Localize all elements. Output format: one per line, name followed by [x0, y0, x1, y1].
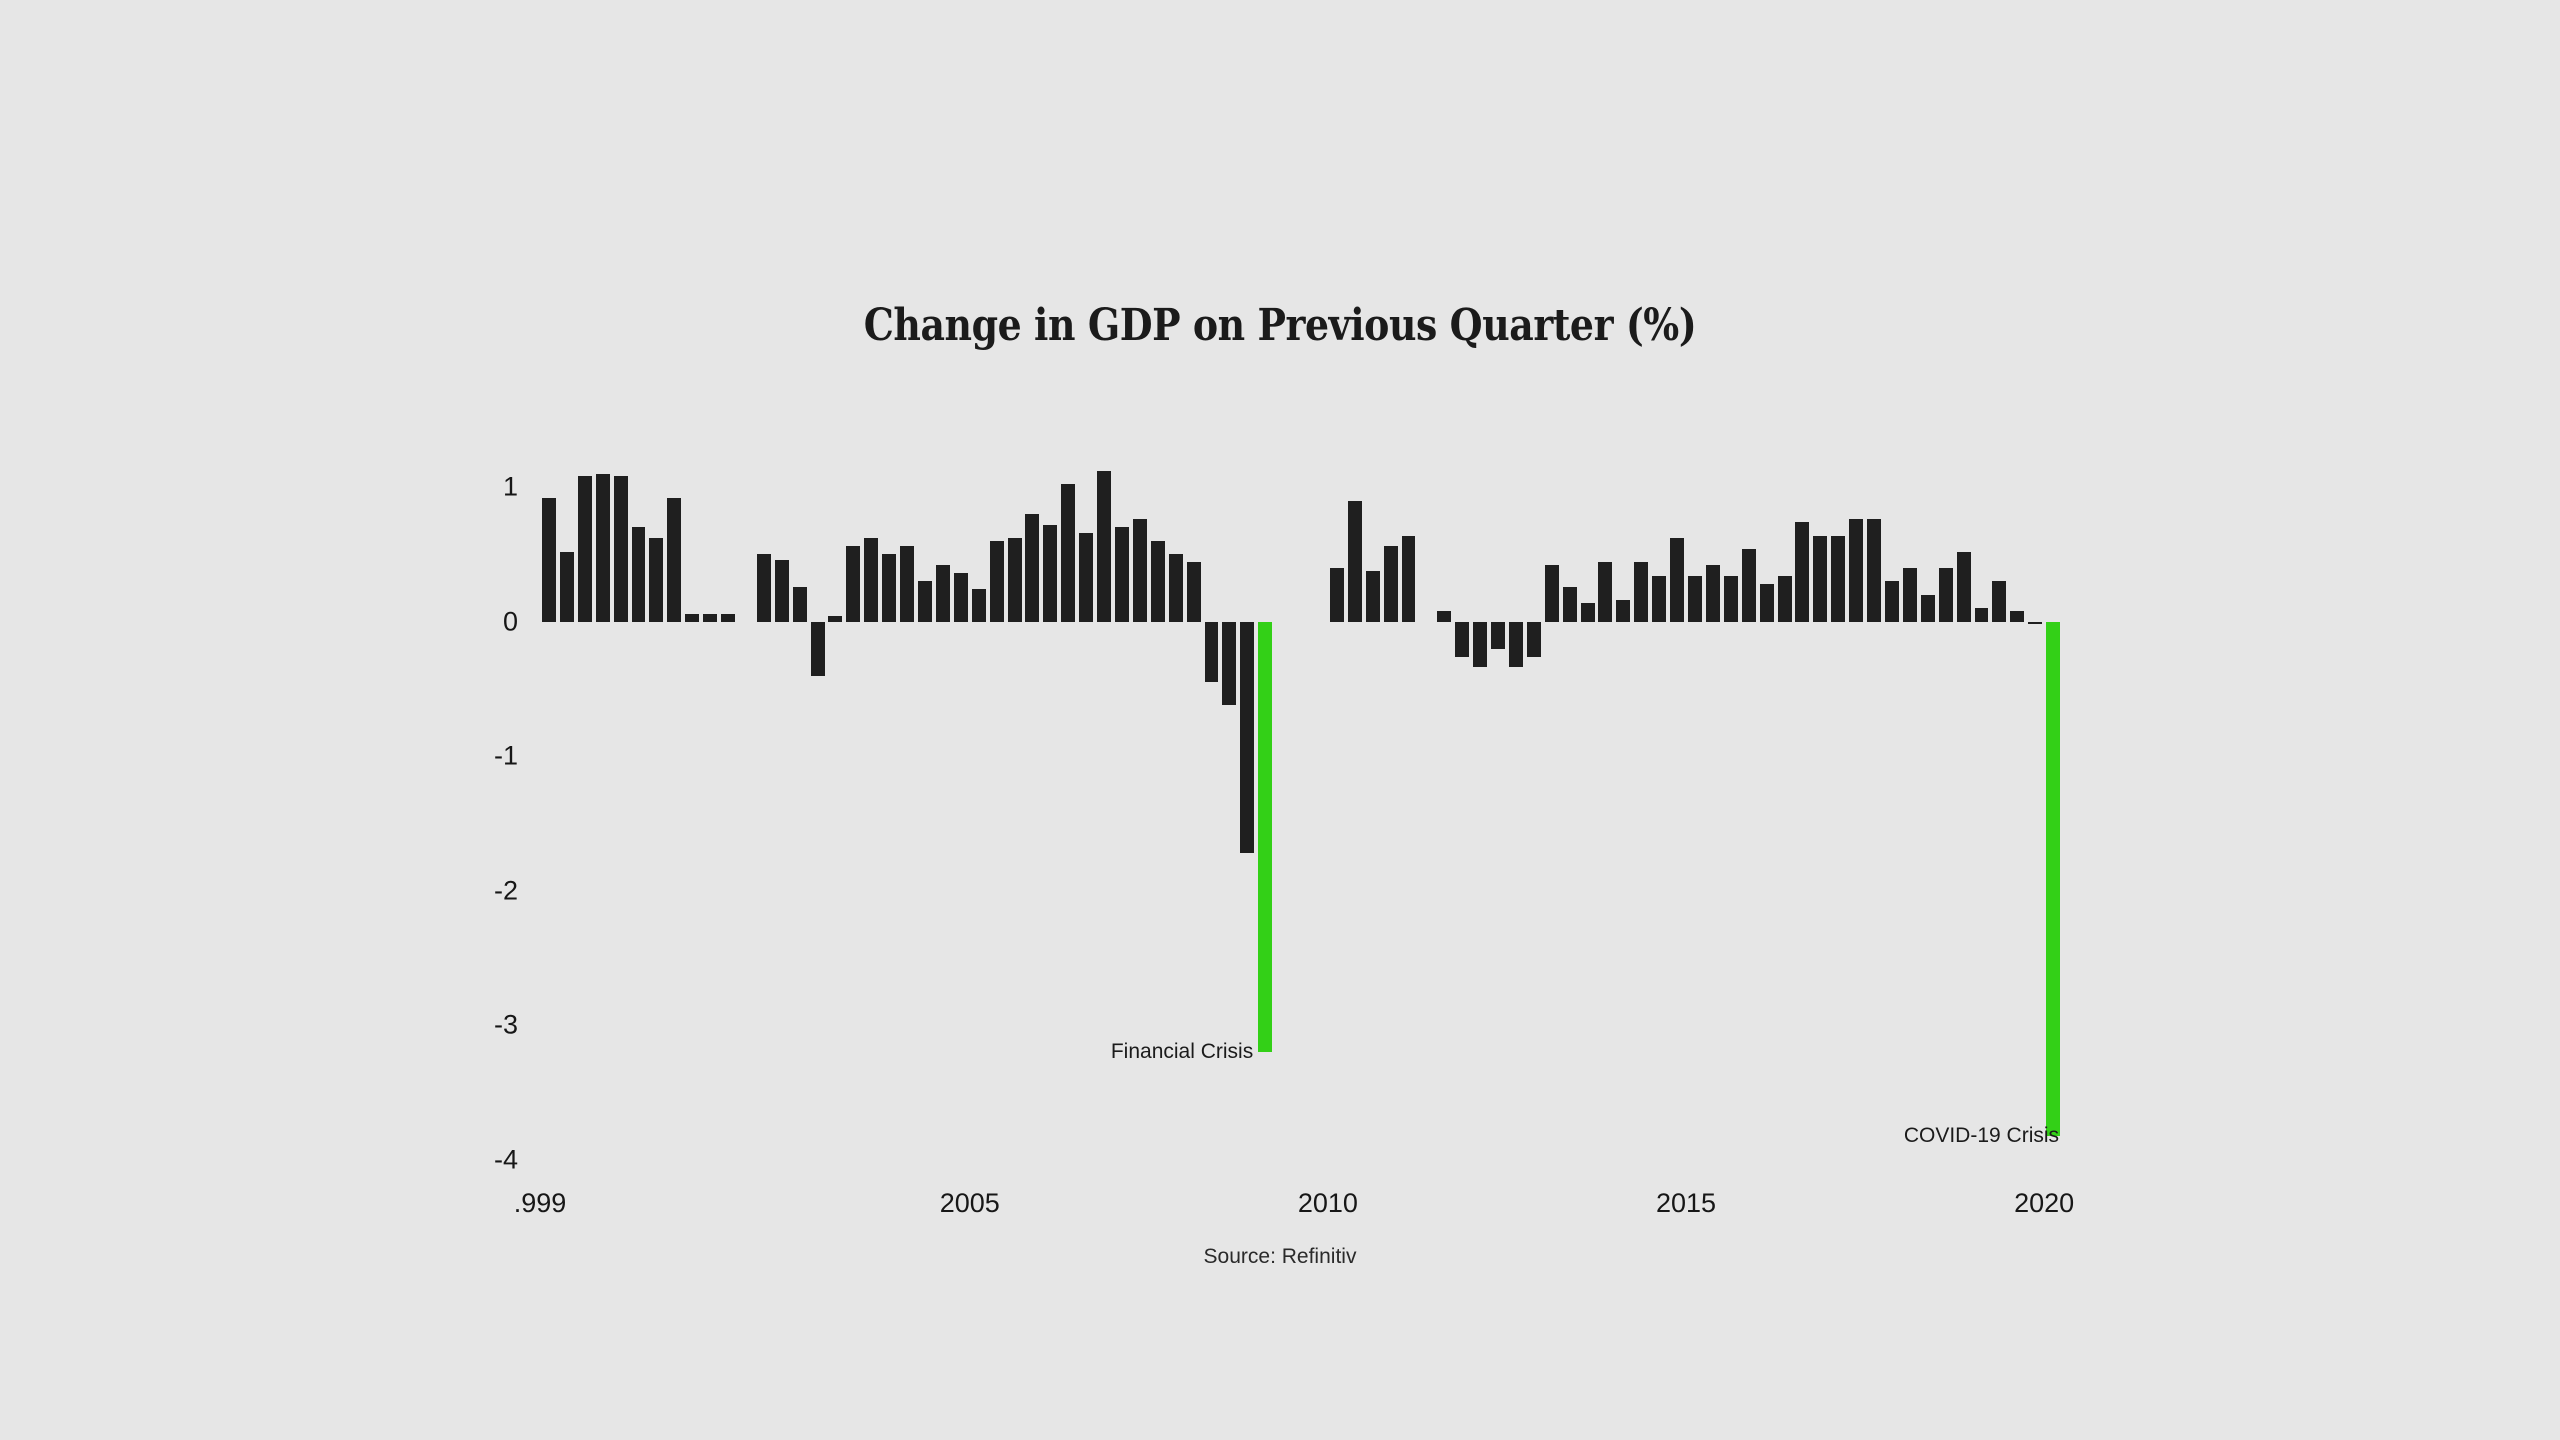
bar [721, 614, 735, 622]
bar [900, 546, 914, 621]
bar [1921, 595, 1935, 622]
bar [1527, 622, 1541, 657]
bar [1688, 576, 1702, 622]
bar [846, 546, 860, 621]
bar [614, 476, 628, 621]
bar [1885, 581, 1899, 621]
bar [1795, 522, 1809, 622]
source-caption: Source: Refinitiv [0, 1245, 2560, 1269]
bar [1348, 501, 1362, 622]
bar [685, 614, 699, 622]
bar [1061, 484, 1075, 621]
bar [1133, 519, 1147, 621]
bar [882, 554, 896, 621]
bar [918, 581, 932, 621]
bar [1616, 600, 1630, 622]
bar [1079, 533, 1093, 622]
bar [1043, 525, 1057, 622]
bar [1849, 519, 1863, 621]
bar [1455, 622, 1469, 657]
bar [1097, 471, 1111, 622]
bar [1491, 622, 1505, 649]
bar [1222, 622, 1236, 705]
bar [1437, 611, 1451, 622]
bar [2028, 622, 2042, 625]
bar [1008, 538, 1022, 621]
bar [1760, 584, 1774, 622]
y-axis-tick-label: -4 [494, 1145, 518, 1176]
y-axis-tick-label: 1 [503, 472, 518, 503]
bar [1025, 514, 1039, 622]
bar [1778, 576, 1792, 622]
bar [560, 552, 574, 622]
bar [2046, 622, 2060, 1136]
bar [828, 616, 842, 621]
bar [703, 614, 717, 622]
bar [1975, 608, 1989, 621]
bar [1742, 549, 1756, 622]
bar [811, 622, 825, 676]
bar [578, 476, 592, 621]
bar [1205, 622, 1219, 683]
bar [1384, 546, 1398, 621]
bar [1813, 536, 1827, 622]
x-axis-tick-label: 2015 [1656, 1188, 1716, 1219]
bar [936, 565, 950, 622]
y-axis-tick-label: -1 [494, 741, 518, 772]
bar [1957, 552, 1971, 622]
bar [632, 527, 646, 621]
bar [1115, 527, 1129, 621]
y-axis-tick-label: -2 [494, 875, 518, 906]
bar [757, 554, 771, 621]
crisis-annotation-label: COVID-19 Crisis [1904, 1124, 2071, 1148]
bar [596, 474, 610, 622]
bar [1598, 562, 1612, 621]
bar [1634, 562, 1648, 621]
bar [1509, 622, 1523, 668]
bar [1581, 603, 1595, 622]
plot-area: 10-1-2-3-4 .9992005201020152020 Financia… [540, 440, 2080, 1160]
bar [990, 541, 1004, 622]
bar [1258, 622, 1272, 1053]
bar [1330, 568, 1344, 622]
y-axis-tick-label: -3 [494, 1010, 518, 1041]
bar [1903, 568, 1917, 622]
x-axis-tick-label: 2010 [1298, 1188, 1358, 1219]
bar [542, 498, 556, 622]
bar [1939, 568, 1953, 622]
x-axis-tick-label: 2005 [940, 1188, 1000, 1219]
bar [1652, 576, 1666, 622]
bar [1366, 571, 1380, 622]
bar [1563, 587, 1577, 622]
chart-title: Change in GDP on Previous Quarter (%) [179, 300, 2381, 351]
bar [793, 587, 807, 622]
bar [1187, 562, 1201, 621]
bar [1670, 538, 1684, 621]
bar [1240, 622, 1254, 853]
bar [1831, 536, 1845, 622]
bar [1706, 565, 1720, 622]
bar [1151, 541, 1165, 622]
bar [1473, 622, 1487, 668]
bar [1169, 554, 1183, 621]
gdp-chart-figure: Change in GDP on Previous Quarter (%) 10… [0, 0, 2560, 1440]
x-axis-tick-label: 2020 [2014, 1188, 2074, 1219]
bar [1992, 581, 2006, 621]
bar [972, 589, 986, 621]
bar [954, 573, 968, 621]
crisis-annotation-label: Financial Crisis [1111, 1040, 1265, 1064]
bar [775, 560, 789, 622]
bar [649, 538, 663, 621]
bar [667, 498, 681, 622]
bar [1867, 519, 1881, 621]
x-axis-tick-label: .999 [514, 1188, 567, 1219]
bar [864, 538, 878, 621]
y-axis-tick-label: 0 [503, 606, 518, 637]
bar [2010, 611, 2024, 622]
bar [1545, 565, 1559, 622]
bar [1724, 576, 1738, 622]
bar [1402, 536, 1416, 622]
